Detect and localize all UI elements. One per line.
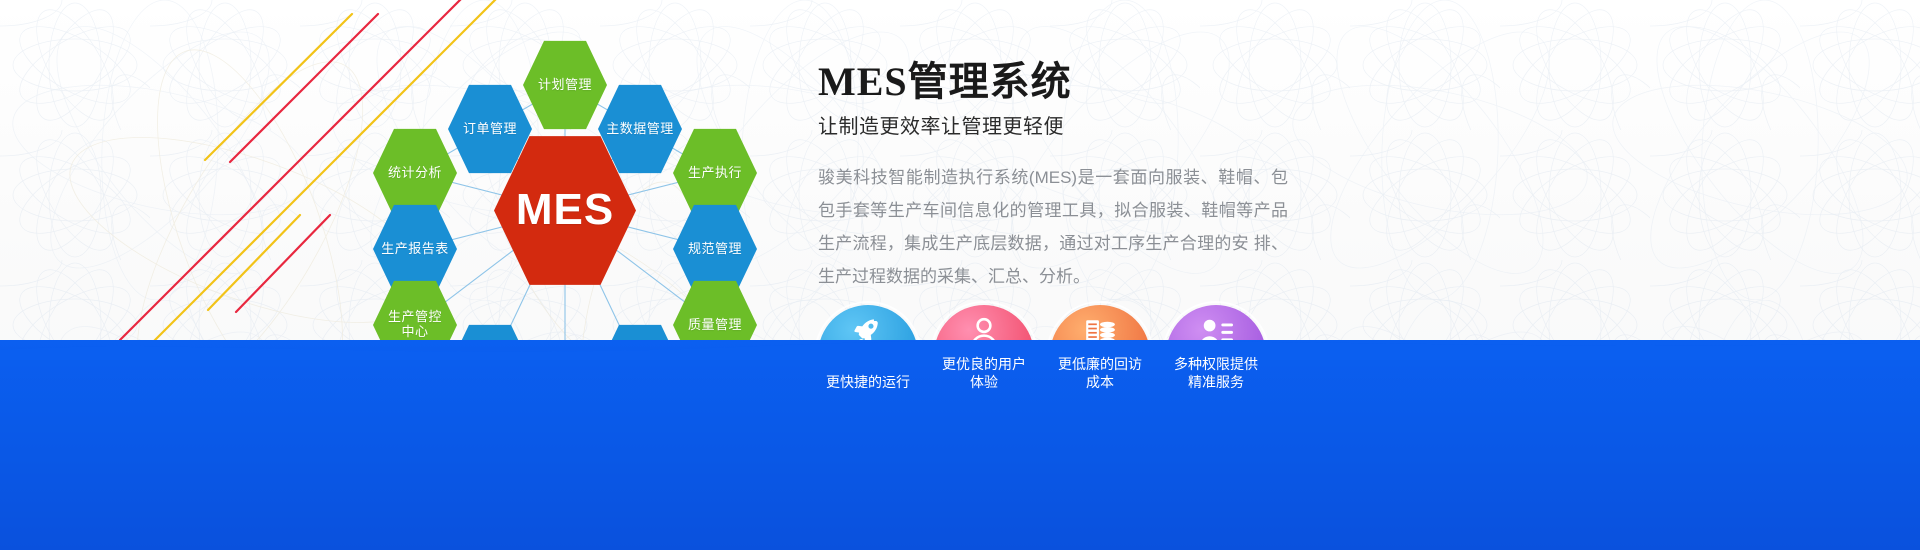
hex-node-label: 计划管理 — [534, 78, 596, 93]
badge-label: 更低廉的回访成本 — [1054, 355, 1146, 391]
hex-node-label: 主数据管理 — [602, 122, 678, 137]
hex-node-label: 规范管理 — [684, 242, 746, 257]
hex-node-label: 生产执行 — [684, 166, 746, 181]
hex-node-label: 统计分析 — [384, 166, 446, 181]
hex-node-label: 订单管理 — [459, 122, 521, 137]
page-title: MES管理系统 — [818, 60, 1338, 104]
hex-node-label: 生产报告表 — [377, 242, 453, 257]
hex-hub-label: MES — [512, 185, 618, 236]
badge-label: 更优良的用户体验 — [938, 355, 1030, 391]
badge-label: 更快捷的运行 — [822, 373, 914, 391]
page-subtitle: 让制造更效率让管理更轻便 — [818, 110, 1338, 139]
hero-description: 骏美科技智能制造执行系统(MES)是一套面向服装、鞋帽、包包手套等生产车间信息化… — [818, 161, 1288, 294]
hero-text-panel: MES管理系统 让制造更效率让管理更轻便 骏美科技智能制造执行系统(MES)是一… — [818, 60, 1338, 294]
badge-label: 多种权限提供精准服务 — [1170, 355, 1262, 391]
mes-hero-banner: 计划管理订单管理主数据管理统计分析生产执行生产报告表规范管理生产管控中心质量管理… — [0, 0, 1920, 550]
